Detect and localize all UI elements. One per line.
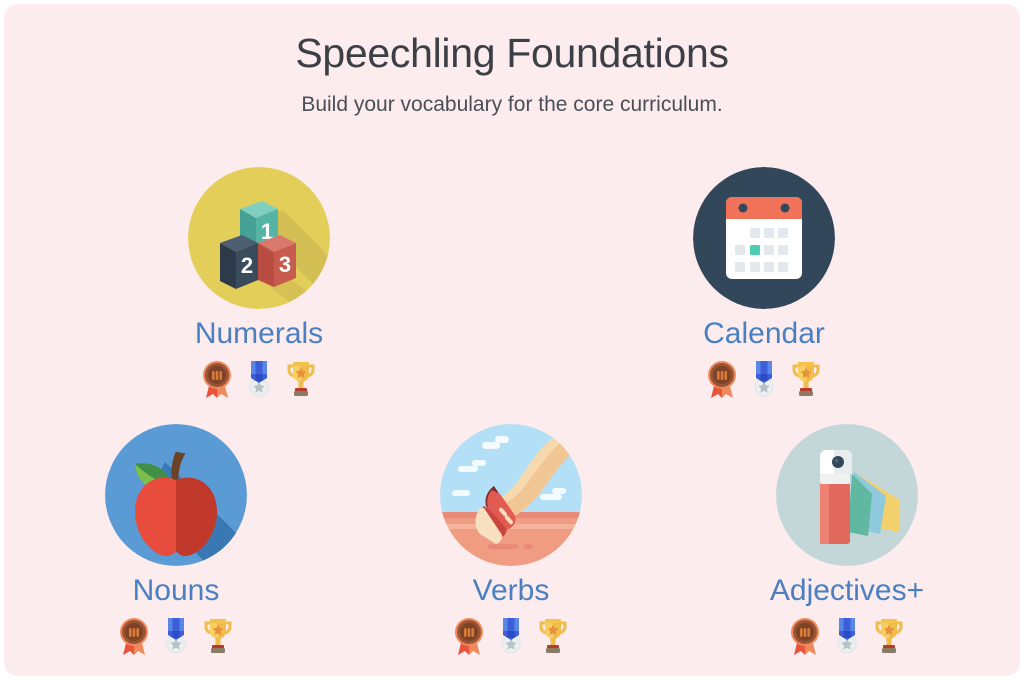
course-label-numerals[interactable]: Numerals: [159, 317, 359, 350]
trophy-badge: [201, 615, 235, 655]
award-ribbon-badge: [200, 358, 234, 398]
badge-row: [664, 356, 864, 398]
course-label-adjectives[interactable]: Adjectives+: [747, 574, 947, 607]
course-label-calendar[interactable]: Calendar: [664, 317, 864, 350]
spray-can-icon[interactable]: [776, 424, 918, 566]
trophy-badge: [789, 358, 823, 398]
badge-row: [76, 613, 276, 655]
award-ribbon-badge: [117, 615, 151, 655]
badge-row: [159, 356, 359, 398]
award-ribbon-badge: [452, 615, 486, 655]
trophy-badge: [872, 615, 906, 655]
medal-badge: [242, 358, 276, 398]
course-card-nouns[interactable]: Nouns: [76, 424, 276, 655]
foundations-page-card: Speechling Foundations Build your vocabu…: [4, 4, 1020, 676]
svg-text:3: 3: [279, 252, 291, 277]
medal-badge: [494, 615, 528, 655]
course-label-verbs[interactable]: Verbs: [411, 574, 611, 607]
course-card-adjectives[interactable]: Adjectives+: [747, 424, 947, 655]
svg-text:2: 2: [241, 253, 253, 278]
medal-badge: [747, 358, 781, 398]
course-grid: 1 2 3 Numerals: [4, 4, 1020, 676]
number-blocks-icon[interactable]: 1 2 3: [188, 167, 330, 309]
medal-badge: [159, 615, 193, 655]
trophy-badge: [284, 358, 318, 398]
award-ribbon-badge: [788, 615, 822, 655]
award-ribbon-badge: [705, 358, 739, 398]
calendar-icon[interactable]: [693, 167, 835, 309]
medal-badge: [830, 615, 864, 655]
badge-row: [411, 613, 611, 655]
course-card-numerals[interactable]: 1 2 3 Numerals: [159, 167, 359, 398]
course-card-calendar[interactable]: Calendar: [664, 167, 864, 398]
apple-icon[interactable]: [105, 424, 247, 566]
course-card-verbs[interactable]: Verbs: [411, 424, 611, 655]
running-shoe-icon[interactable]: [440, 424, 582, 566]
trophy-badge: [536, 615, 570, 655]
badge-row: [747, 613, 947, 655]
course-label-nouns[interactable]: Nouns: [76, 574, 276, 607]
